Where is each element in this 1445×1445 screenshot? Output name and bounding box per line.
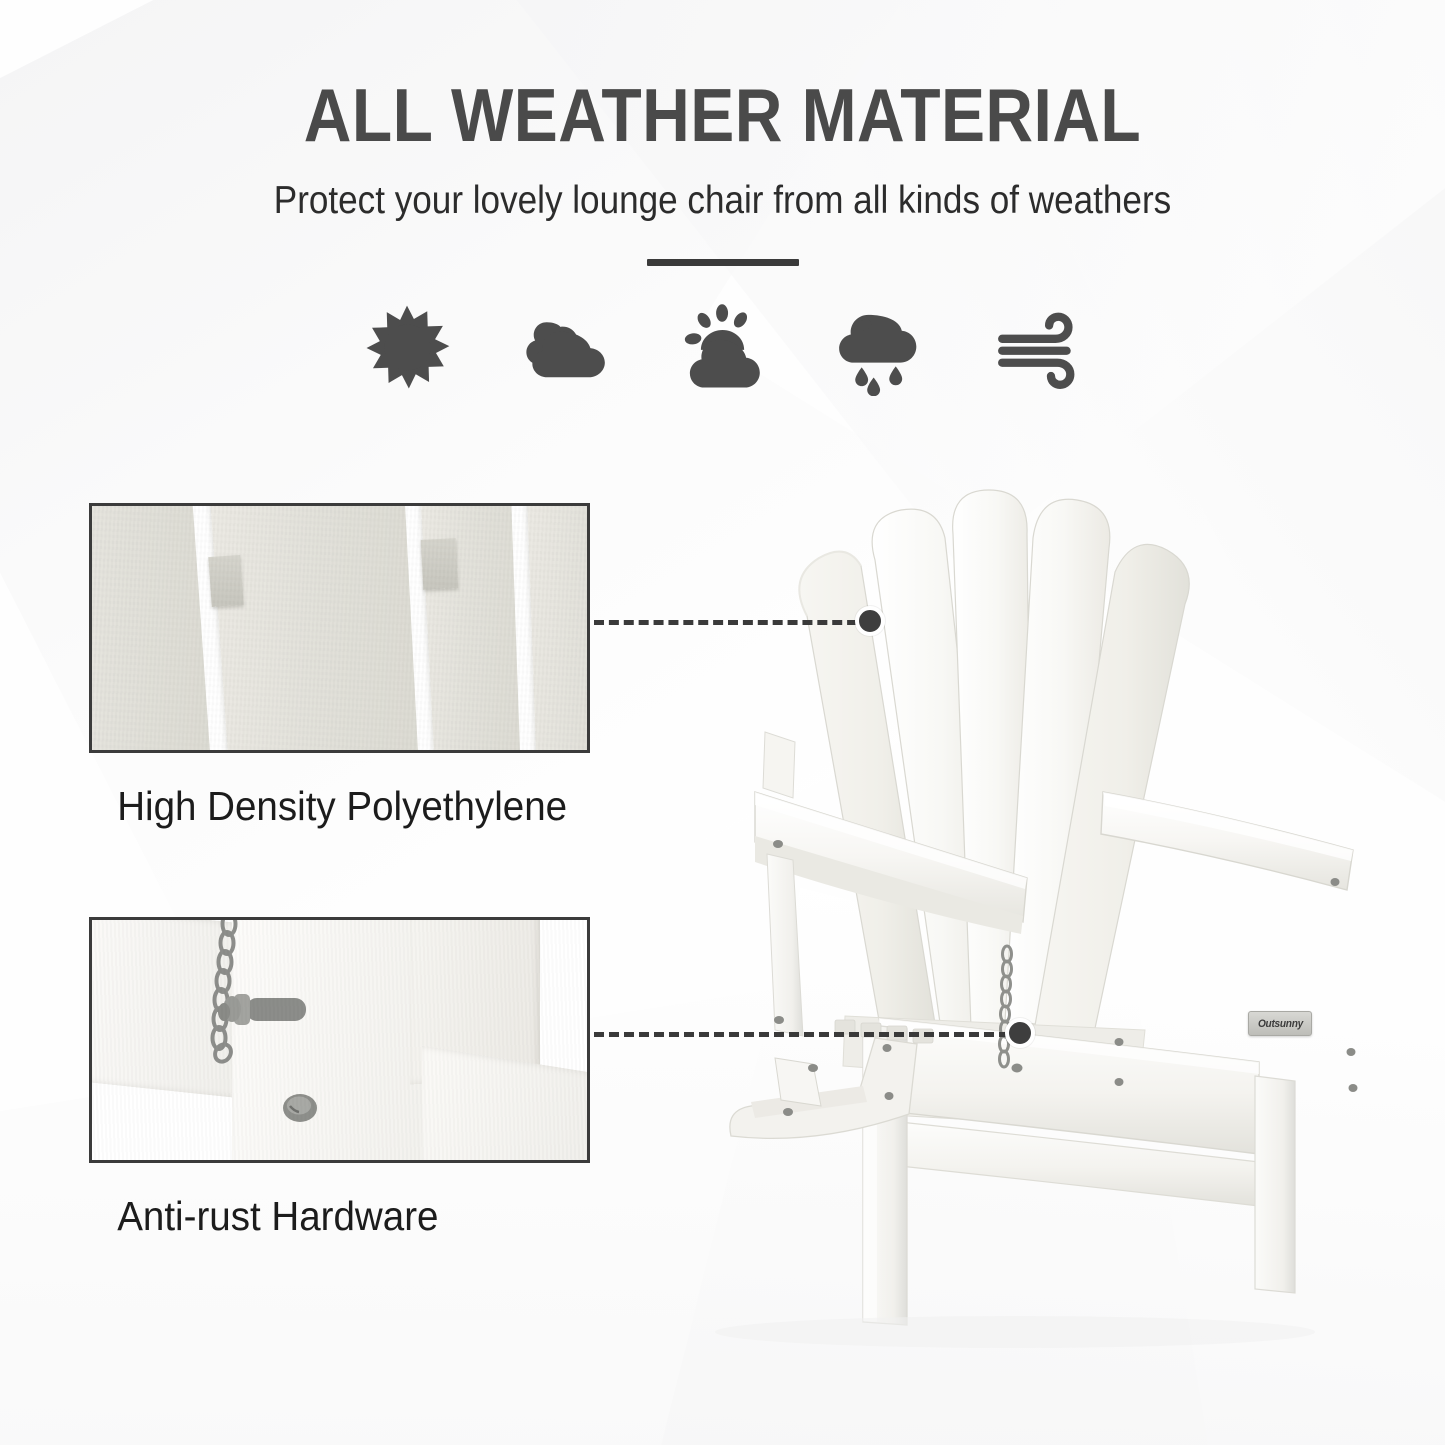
rain-cloud-icon: [835, 300, 927, 396]
weather-icon-row: [0, 300, 1445, 396]
detail-card-hdpe: High Density Polyethylene: [89, 503, 598, 830]
hdpe-slat-photo: [92, 506, 587, 750]
hotspot-dot-hdpe: [855, 606, 885, 636]
brand-plate: Outsunny: [1248, 1011, 1312, 1036]
hardware-photo-frame: [89, 917, 590, 1163]
connector-line-hdpe: [594, 620, 872, 625]
hdpe-texture-grain: [92, 506, 587, 750]
page-subtitle: Protect your lovely lounge chair from al…: [72, 153, 1373, 223]
clouds-icon: [519, 300, 611, 396]
hardware-caption: Anti-rust Hardware: [89, 1193, 560, 1240]
partly-cloudy-icon: [677, 300, 769, 396]
hotspot-dot-hardware: [1005, 1018, 1035, 1048]
header-block: ALL WEATHER MATERIAL Protect your lovely…: [0, 0, 1445, 266]
connector-line-hardware: [594, 1032, 1024, 1037]
wind-icon: [993, 300, 1085, 396]
hdpe-caption: High Density Polyethylene: [89, 783, 567, 830]
hardware-texture-grain: [92, 920, 587, 1160]
sun-icon: [361, 300, 453, 396]
hdpe-photo-frame: [89, 503, 590, 753]
adirondack-chair-image: [715, 420, 1445, 1360]
infographic-canvas: ALL WEATHER MATERIAL Protect your lovely…: [0, 0, 1445, 1445]
header-divider: [647, 259, 799, 266]
hardware-photo: [92, 920, 587, 1160]
brand-name: Outsunny: [1257, 1018, 1302, 1030]
detail-card-hardware: Anti-rust Hardware: [89, 917, 590, 1240]
page-title: ALL WEATHER MATERIAL: [87, 0, 1359, 153]
